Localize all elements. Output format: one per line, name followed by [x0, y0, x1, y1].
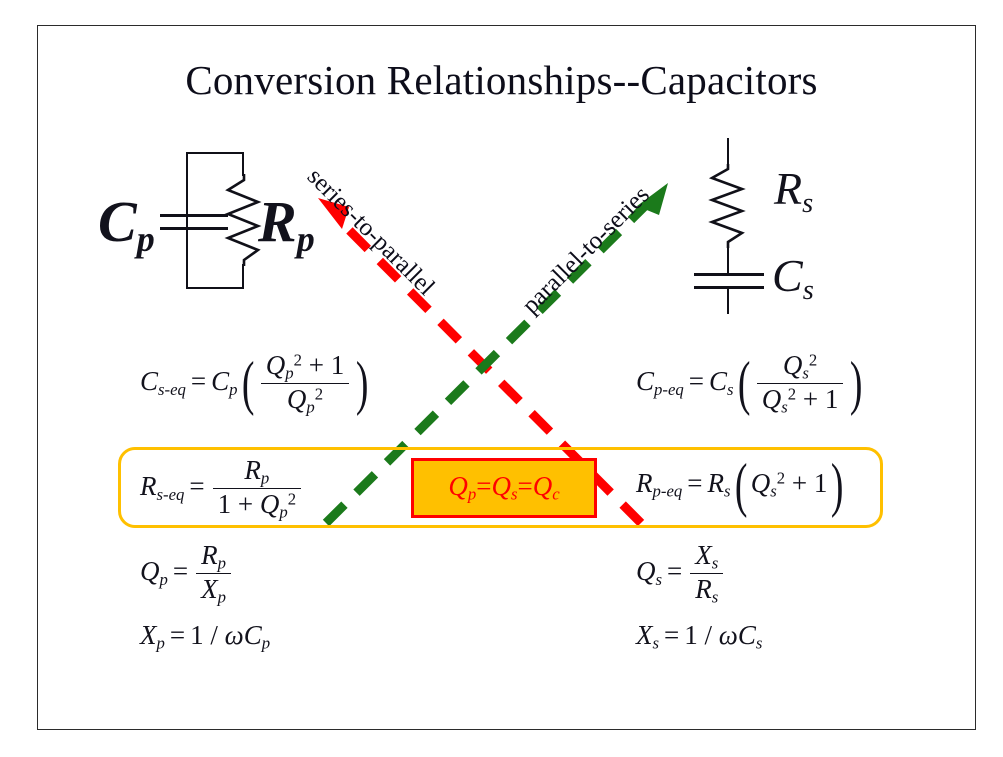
- equation-c-p-eq: Cp-eq=Cs(Qs2Qs2 + 1): [636, 350, 867, 418]
- num-sub: p: [285, 364, 293, 383]
- den-sub: p: [218, 588, 226, 607]
- equation-r-s-eq: Rs-eq=Rp1 + Qp2: [140, 455, 304, 523]
- x-p-equals: =: [170, 620, 185, 650]
- equation-q-p: Qp=RpXp: [140, 540, 234, 608]
- fraction-numerator: Xs: [690, 540, 723, 573]
- q-p-lhs-sub: p: [160, 570, 168, 589]
- paren-close: ): [356, 368, 369, 400]
- inner-var: Q: [751, 468, 771, 498]
- num-sub: p: [261, 469, 269, 488]
- c-p-eq-fraction: Qs2Qs2 + 1: [757, 350, 844, 418]
- den-sub: p: [279, 503, 287, 522]
- equation-x-p: Xp=1 / ωCp: [140, 620, 270, 654]
- c-s-eq-lhs: C: [140, 366, 158, 396]
- x-s-rhs-var: C: [738, 620, 756, 650]
- x-s-lhs: X: [636, 620, 653, 650]
- x-p-rhs-var: C: [244, 620, 262, 650]
- equation-r-p-eq: Rp-eq=Rs(Qs2 + 1): [636, 468, 848, 502]
- c-s-eq-fraction: Qp2 + 1Qp2: [261, 350, 349, 418]
- c-p-eq-rhs-sub: s: [727, 380, 734, 399]
- q-p-fraction: RpXp: [196, 540, 231, 608]
- omega-symbol: ω: [225, 620, 244, 650]
- den-lead: 1 +: [218, 489, 253, 519]
- den-var: Q: [260, 489, 280, 519]
- x-s-rhs-sub: s: [756, 634, 763, 653]
- r-p-eq-rhs: R: [707, 468, 724, 498]
- c-s-eq-lhs-sub: s-eq: [158, 380, 186, 399]
- x-s-equals: =: [664, 620, 679, 650]
- r-p-eq-equals: =: [687, 468, 702, 498]
- paren-open: (: [737, 368, 750, 400]
- num-sub: p: [218, 554, 226, 573]
- r-p-eq-lhs: R: [636, 468, 653, 498]
- paren-close: ): [850, 368, 863, 400]
- fraction-denominator: 1 + Qp2: [213, 488, 301, 522]
- equation-q-s: Qs=XsRs: [636, 540, 726, 608]
- q-sub-c: c: [552, 485, 559, 504]
- num-var: R: [244, 455, 261, 485]
- paren-open: (: [734, 470, 747, 502]
- q-p-lhs: Q: [140, 556, 160, 586]
- r-s-eq-lhs: R: [140, 471, 157, 501]
- fraction-numerator: Rp: [213, 455, 301, 488]
- q-s-fraction: XsRs: [690, 540, 723, 608]
- q-s-equals: =: [667, 556, 682, 586]
- c-s-eq-equals: =: [191, 366, 206, 396]
- fraction-numerator: Qp2 + 1: [261, 350, 349, 383]
- center-identity-box: Qp=Qs=Qc: [411, 458, 597, 518]
- den-var: X: [201, 574, 218, 604]
- den-tail: + 1: [803, 384, 838, 414]
- num-var: X: [695, 540, 712, 570]
- q-symbol-1: Q: [448, 471, 468, 501]
- fraction-numerator: Qs2: [757, 350, 844, 383]
- fraction-denominator: Rs: [690, 573, 723, 607]
- c-s-eq-rhs-sub: p: [229, 380, 237, 399]
- den-var: R: [695, 574, 712, 604]
- den-sup: 2: [288, 490, 296, 509]
- inner-tail: + 1: [792, 468, 827, 498]
- num-var: Q: [783, 350, 803, 380]
- equals-2: =: [517, 471, 532, 501]
- den-sup: 2: [788, 385, 796, 404]
- den-var: Q: [287, 384, 307, 414]
- num-var: R: [201, 540, 218, 570]
- equals-1: =: [476, 471, 491, 501]
- r-s-eq-fraction: Rp1 + Qp2: [213, 455, 301, 523]
- q-symbol-3: Q: [533, 471, 553, 501]
- r-p-eq-rhs-sub: s: [724, 482, 731, 501]
- c-p-eq-equals: =: [689, 366, 704, 396]
- fraction-numerator: Rp: [196, 540, 231, 573]
- num-var: Q: [266, 350, 286, 380]
- inner-sup: 2: [777, 468, 785, 487]
- x-p-rhs-sub: p: [262, 634, 270, 653]
- r-s-eq-lhs-sub: s-eq: [157, 485, 185, 504]
- den-sub: p: [306, 398, 314, 417]
- fraction-denominator: Xp: [196, 573, 231, 607]
- r-p-eq-lhs-sub: p-eq: [653, 482, 683, 501]
- q-s-lhs: Q: [636, 556, 656, 586]
- x-p-lhs-sub: p: [157, 634, 165, 653]
- x-p-one-over: 1 /: [190, 620, 218, 650]
- q-symbol-2: Q: [491, 471, 511, 501]
- q-sub-p: p: [468, 485, 476, 504]
- num-sup: 2: [294, 350, 302, 369]
- den-sup: 2: [315, 385, 323, 404]
- q-p-equals: =: [173, 556, 188, 586]
- fraction-denominator: Qs2 + 1: [757, 383, 844, 417]
- num-sup: 2: [809, 350, 817, 369]
- num-sub: s: [712, 554, 719, 573]
- den-sub: s: [712, 588, 719, 607]
- q-identity-text: Qp=Qs=Qc: [448, 471, 559, 505]
- num-tail: + 1: [309, 350, 344, 380]
- c-p-eq-lhs: C: [636, 366, 654, 396]
- slide-canvas: Conversion Relationships--Capacitors Cp …: [0, 0, 1003, 757]
- den-var: Q: [762, 384, 782, 414]
- x-p-lhs: X: [140, 620, 157, 650]
- fraction-denominator: Qp2: [261, 383, 349, 417]
- q-s-lhs-sub: s: [656, 570, 663, 589]
- equation-x-s: Xs=1 / ωCs: [636, 620, 762, 654]
- c-p-eq-rhs: C: [709, 366, 727, 396]
- paren-open: (: [241, 368, 254, 400]
- equation-c-s-eq: Cs-eq=Cp(Qp2 + 1Qp2): [140, 350, 372, 418]
- x-s-one-over: 1 /: [684, 620, 712, 650]
- c-p-eq-lhs-sub: p-eq: [654, 380, 684, 399]
- c-s-eq-rhs: C: [211, 366, 229, 396]
- r-s-eq-equals: =: [189, 471, 204, 501]
- x-s-lhs-sub: s: [653, 634, 660, 653]
- omega-symbol: ω: [719, 620, 738, 650]
- paren-close: ): [831, 470, 844, 502]
